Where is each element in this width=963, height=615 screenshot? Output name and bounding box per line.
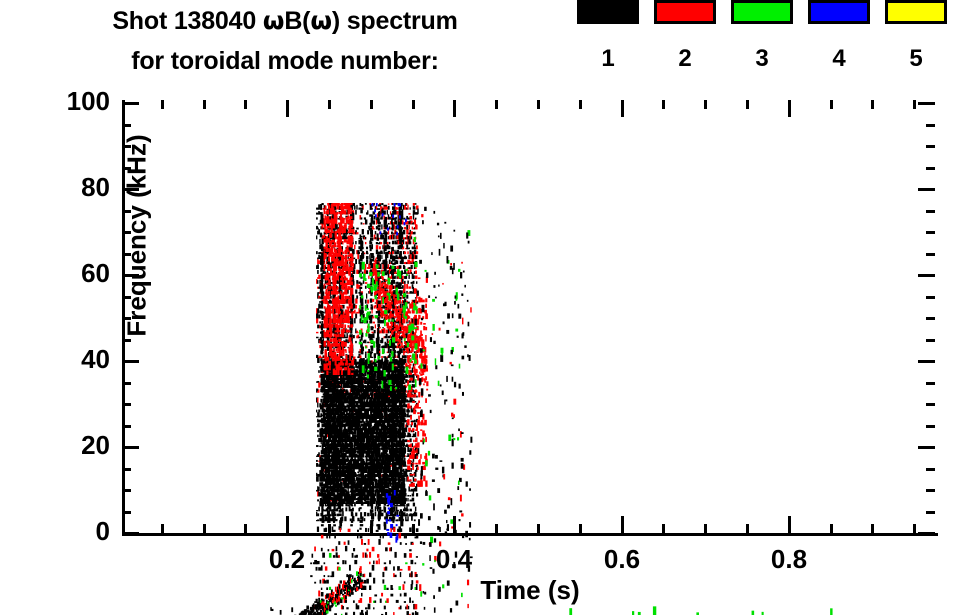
spectrogram-mark	[351, 376, 353, 380]
spectrogram-mark	[333, 490, 336, 492]
spectrogram-mark	[374, 353, 376, 358]
spectrogram-mark	[362, 229, 364, 234]
spectrogram-mark	[317, 308, 319, 313]
spectrogram-mark	[378, 255, 381, 258]
spectrogram-mark	[403, 230, 405, 234]
spectrogram-mark	[371, 259, 374, 261]
spectrogram-mark	[347, 456, 349, 462]
spectrogram-mark	[385, 342, 387, 343]
spectrogram-mark	[400, 515, 403, 519]
spectrogram-mark	[355, 359, 356, 364]
spectrogram-mark	[406, 229, 408, 234]
spectrogram-mark	[395, 217, 397, 220]
spectrogram-mark	[321, 245, 323, 251]
spectrogram-mark	[402, 285, 404, 289]
spectrogram-mark	[378, 511, 380, 516]
spectrogram-mark	[409, 495, 411, 496]
spectrogram-mark	[415, 275, 418, 278]
spectrogram-mark	[413, 503, 415, 507]
spectrogram-mark	[365, 237, 366, 239]
spectrogram-mark	[398, 222, 400, 227]
spectrogram-mark	[370, 306, 373, 309]
spectrogram-mark	[361, 311, 364, 314]
spectrogram-mark	[392, 517, 396, 520]
spectrogram-mark	[388, 206, 390, 210]
spectrogram-mark	[361, 208, 364, 210]
spectrogram-mark	[406, 513, 408, 516]
spectrogram-mark	[355, 305, 357, 309]
spectrogram-mark	[335, 514, 337, 516]
spectrogram-mark	[360, 241, 363, 245]
spectrogram-mark	[395, 220, 397, 224]
spectrogram-mark	[367, 230, 369, 234]
spectrogram-mark	[400, 297, 402, 300]
spectrogram-mark	[407, 251, 408, 254]
spectrogram-mark	[356, 205, 357, 210]
spectrogram-mark	[413, 281, 415, 284]
spectrogram-mark	[383, 205, 386, 207]
spectrogram-mark	[407, 495, 409, 497]
spectrogram-mark	[389, 252, 392, 254]
spectrogram-mark	[316, 213, 318, 215]
spectrogram-mark	[338, 513, 341, 516]
spectrogram-mark	[404, 251, 406, 254]
spectrogram-mark	[342, 504, 343, 507]
spectrogram-mark	[392, 206, 395, 209]
spectrogram-mark	[364, 217, 366, 219]
spectrogram-mark	[407, 292, 409, 293]
spectrogram-mark	[408, 225, 409, 230]
spectrogram-mark	[330, 381, 332, 384]
spectrogram-mark	[369, 267, 370, 269]
legend-label-2: 2	[654, 45, 716, 73]
spectrogram-mark	[399, 251, 402, 255]
spectrogram-mark	[321, 301, 323, 303]
spectrogram-mark	[376, 245, 379, 249]
spectrogram-mark	[357, 401, 359, 408]
spectrogram-mark	[329, 502, 331, 504]
spectrogram-mark	[317, 264, 319, 269]
spectrogram-mark	[413, 275, 415, 279]
spectrogram-mark	[316, 318, 318, 323]
spectrogram-mark	[416, 225, 418, 230]
spectrogram-mark	[406, 295, 408, 299]
spectrogram-mark	[317, 270, 319, 274]
spectrogram-mark	[321, 524, 324, 526]
spectrogram-mark	[379, 330, 381, 333]
spectrogram-mark	[351, 494, 354, 496]
spectrogram-mark	[374, 322, 375, 323]
spectrogram-mark	[361, 337, 363, 341]
spectrogram-mark	[403, 237, 405, 239]
spectrogram-mark	[373, 316, 374, 318]
spectrogram-mark	[399, 265, 401, 268]
spectrogram-mark	[378, 204, 381, 206]
spectrogram-mark	[349, 504, 350, 507]
spectrogram-mark	[342, 487, 344, 489]
spectrogram-mark	[356, 298, 357, 303]
spectrogram-mark	[414, 219, 416, 224]
spectrogram-mark	[319, 301, 320, 304]
spectrogram-mark	[382, 345, 384, 348]
spectrogram-mark	[406, 225, 408, 230]
spectrogram-mark	[367, 253, 368, 255]
spectrogram-mark	[371, 335, 373, 337]
spectrogram-mark	[316, 313, 318, 318]
spectrogram-mark	[355, 259, 357, 264]
spectrogram-mark	[323, 409, 326, 415]
spectrogram-mark	[415, 507, 416, 512]
spectrogram-mark	[370, 298, 372, 302]
spectrogram-mark	[323, 393, 325, 395]
spectrogram-mark	[391, 232, 393, 235]
spectrogram-mark	[316, 337, 319, 338]
spectrogram-mark	[393, 280, 395, 284]
spectrogram-mark	[409, 241, 411, 244]
spectrogram-mark	[409, 500, 412, 502]
spectrogram-mark	[415, 432, 416, 437]
spectrogram-mark	[398, 510, 399, 512]
spectrogram-mark	[369, 214, 372, 216]
spectrogram-mark	[333, 524, 336, 526]
spectrogram-mark	[409, 216, 412, 220]
spectrogram-mark	[383, 210, 385, 214]
spectrogram-mark	[356, 280, 358, 284]
spectrogram-mark	[406, 475, 408, 477]
spectrogram-mark	[385, 252, 388, 258]
spectrogram-mark	[345, 429, 347, 431]
spectrogram-mark	[319, 321, 321, 323]
spectrogram-mark	[330, 296, 332, 299]
spectrogram-mark	[316, 251, 318, 254]
spectrogram-mark	[357, 478, 359, 484]
spectrogram-mark	[384, 238, 387, 241]
spectrogram-mark	[360, 520, 363, 523]
spectrogram-mark	[358, 252, 360, 254]
spectrogram-mark	[400, 519, 403, 526]
spectrogram-mark	[357, 518, 359, 521]
spectrogram-mark	[341, 414, 343, 415]
spectrogram-mark	[381, 255, 382, 259]
spectrogram-mark	[317, 398, 318, 403]
spectrogram-mark	[354, 497, 355, 501]
spectrogram-mark	[353, 249, 355, 254]
legend-swatch-4	[808, 0, 870, 24]
spectrogram-mark	[399, 210, 402, 213]
spectrogram-mark	[332, 435, 334, 438]
spectrogram-mark	[350, 334, 353, 337]
legend-entry-5: 5	[885, 0, 949, 24]
spectrogram-mark	[343, 489, 346, 492]
spectrogram-mark	[377, 225, 380, 227]
spectrogram-mark	[355, 475, 357, 477]
spectrogram-mark	[327, 511, 330, 513]
spectrogram-mark	[319, 239, 320, 244]
spectrogram-mark	[325, 286, 327, 289]
spectrogram-mark	[412, 367, 414, 372]
spectrogram-mark	[339, 510, 342, 513]
spectrogram-mark	[354, 502, 356, 506]
spectrogram-mark	[321, 302, 323, 306]
spectrogram-mark	[371, 309, 372, 313]
spectrogram-mark	[369, 254, 370, 259]
spectrogram-mark	[365, 286, 367, 289]
spectrogram-mark	[392, 241, 394, 245]
spectrogram-mark	[366, 270, 368, 274]
omega-symbol-1: ω	[263, 6, 285, 35]
spectrogram-mark	[318, 389, 319, 392]
spectrogram-mark	[342, 508, 343, 511]
spectrogram-mark	[353, 357, 355, 358]
spectrogram-mark	[338, 490, 340, 493]
legend-label-5: 5	[885, 45, 947, 73]
spectrogram-mark	[371, 304, 373, 306]
spectrogram-mark	[329, 454, 330, 457]
spectrogram-mark	[350, 502, 352, 504]
spectrogram-mark	[321, 378, 323, 385]
spectrogram-mark	[346, 333, 347, 338]
spectrogram-mark	[344, 500, 346, 504]
spectrogram-mark	[388, 348, 390, 353]
spectrogram-mark	[361, 204, 363, 206]
spectrogram-mark	[338, 412, 339, 415]
spectrogram-mark	[403, 239, 404, 244]
spectrogram-mark	[408, 286, 410, 288]
spectrogram-mark	[333, 492, 335, 496]
spectrogram-mark	[408, 267, 410, 269]
spectrogram-mark	[411, 231, 413, 234]
spectrogram-mark	[383, 242, 387, 245]
figure-title-line-2: for toroidal mode number:	[0, 47, 570, 76]
spectrogram-mark	[394, 276, 396, 279]
spectrogram-mark	[405, 256, 407, 259]
spectrogram-mark	[365, 352, 367, 353]
spectrogram-mark	[385, 231, 387, 234]
spectrogram-mark	[360, 236, 363, 238]
omega-symbol-2: ω	[310, 6, 332, 35]
spectrogram-mark	[321, 311, 323, 313]
spectrogram-mark	[318, 382, 320, 387]
spectrogram-mark	[356, 312, 358, 314]
spectrogram-mark	[320, 332, 322, 334]
spectrogram-mark	[337, 351, 339, 353]
spectrogram-mark	[347, 443, 349, 446]
spectrogram-mark	[320, 437, 322, 442]
spectrogram-mark	[318, 229, 320, 234]
spectrogram-mark	[365, 264, 366, 269]
title-text-post: ) spectrum	[332, 7, 458, 35]
spectrogram-mark	[370, 326, 373, 330]
spectrogram-mark	[351, 521, 353, 523]
spectrogram-mark	[377, 252, 381, 255]
spectrogram-mark	[321, 323, 323, 330]
spectrogram-mark	[328, 439, 330, 446]
spectrogram-mark	[321, 276, 323, 279]
spectrogram-mark	[317, 476, 319, 481]
spectrogram-mark	[339, 473, 341, 477]
plot-frame	[122, 100, 938, 536]
title-text-pre: Shot 138040	[112, 7, 262, 35]
spectrogram-mark	[415, 255, 418, 259]
spectrogram-mark	[355, 289, 357, 293]
spectrogram-mark	[355, 210, 357, 215]
spectrogram-mark	[412, 498, 415, 502]
spectrogram-mark	[343, 389, 345, 392]
spectrogram-mark	[415, 472, 416, 477]
spectrogram-mark	[356, 232, 358, 234]
spectrogram-mark	[326, 399, 329, 403]
spectrogram-mark	[337, 374, 338, 380]
spectrogram-mark	[366, 256, 368, 259]
spectrogram-mark	[355, 314, 357, 319]
spectrogram-mark	[414, 420, 416, 423]
spectrogram-mark	[316, 512, 317, 516]
spectrogram-mark	[402, 209, 403, 214]
spectrogram-mark	[330, 450, 332, 454]
spectrogram-mark	[357, 362, 359, 365]
spectrogram-mark	[385, 343, 388, 347]
spectrogram-mark	[319, 317, 320, 318]
legend-label-1: 1	[577, 45, 639, 73]
spectrogram-mark	[359, 528, 361, 530]
spectrogram-mark	[318, 204, 320, 209]
spectrogram-mark	[365, 342, 367, 344]
spectrogram-mark	[321, 487, 324, 489]
spectrogram-mark	[354, 206, 356, 210]
spectrogram-mark	[404, 355, 406, 358]
spectrogram-mark	[404, 281, 406, 284]
legend-swatch-1	[577, 0, 639, 24]
spectrogram-mark	[375, 324, 376, 328]
spectrogram-mark	[415, 203, 417, 205]
spectrogram-mark	[376, 524, 379, 526]
spectrogram-mark	[408, 375, 410, 378]
spectrogram-mark	[361, 351, 364, 355]
spectrogram-mark	[356, 331, 358, 334]
spectrogram-mark	[406, 242, 407, 245]
spectrogram-mark	[381, 252, 383, 254]
spectrogram-mark	[350, 524, 353, 526]
spectrogram-mark	[336, 309, 338, 314]
spectrogram-mark	[392, 224, 394, 230]
spectrogram-mark	[407, 516, 408, 521]
spectrogram-mark	[360, 355, 362, 358]
spectrogram-mark	[320, 351, 323, 354]
spectrogram-mark	[416, 493, 418, 496]
spectrogram-mark	[331, 482, 333, 485]
spectrogram-mark	[376, 242, 378, 244]
spectrogram-mark	[321, 396, 323, 398]
spectrogram-mark	[320, 233, 322, 237]
spectrogram-mark	[413, 491, 414, 496]
spectrogram-mark	[365, 353, 367, 358]
spectrogram-mark	[334, 480, 336, 485]
spectrogram-mark	[320, 220, 324, 224]
spectrogram-mark	[406, 321, 407, 323]
spectrogram-mark	[354, 318, 356, 323]
spectrogram-mark	[407, 509, 408, 512]
spectrogram-mark	[393, 235, 395, 239]
spectrogram-mark	[345, 507, 347, 511]
spectrogram-mark	[320, 337, 322, 341]
spectrogram-mark	[356, 295, 358, 298]
spectrogram-mark	[392, 359, 395, 361]
spectrogram-mark	[321, 239, 323, 245]
spectrogram-mark	[412, 247, 414, 250]
spectrogram-mark	[413, 459, 414, 462]
spectrogram-mark	[318, 409, 320, 412]
spectrogram-mark	[352, 508, 354, 512]
spectrogram-mark	[359, 459, 362, 462]
spectrogram-mark	[416, 281, 417, 284]
spectrogram-mark	[317, 499, 319, 501]
spectrogram-mark	[359, 265, 361, 272]
spectrogram-mark	[316, 445, 319, 447]
spectrogram-mark	[409, 291, 411, 294]
spectrogram-mark	[348, 355, 350, 358]
spectrogram-mark	[324, 262, 325, 264]
spectrogram-mark	[405, 276, 407, 279]
spectrogram-mark	[318, 507, 320, 512]
spectrogram-mark	[358, 474, 360, 477]
spectrogram-mark	[400, 509, 402, 512]
spectrogram-mark	[411, 236, 413, 239]
spectrogram-mark	[316, 460, 318, 462]
spectrogram-mark	[392, 508, 394, 510]
spectrogram-mark	[381, 513, 383, 517]
spectrogram-mark	[384, 522, 386, 527]
spectrogram-mark	[402, 276, 404, 279]
figure-title-line-1: Shot 138040 ωB(ω) spectrum	[0, 6, 570, 36]
spectrogram-mark	[321, 458, 323, 461]
spectrogram-mark	[377, 238, 380, 241]
spectrogram-mark	[321, 455, 324, 458]
spectrogram-mark	[413, 210, 415, 214]
spectrogram-mark	[376, 311, 378, 314]
spectrogram-mark	[381, 224, 382, 229]
spectrogram-mark	[356, 228, 359, 230]
spectrogram-mark	[400, 245, 403, 248]
spectrogram-mark	[339, 385, 341, 388]
spectrogram-mark	[404, 505, 405, 507]
spectrogram-mark	[363, 223, 365, 224]
spectrogram-mark	[354, 480, 355, 485]
spectrogram-mark	[391, 256, 394, 258]
spectrogram-mark	[416, 245, 418, 249]
spectrogram-mark	[365, 242, 367, 244]
spectrogram-mark	[413, 384, 415, 387]
spectrogram-mark	[333, 511, 335, 513]
legend-entry-3: 3	[731, 0, 795, 24]
spectrogram-mark	[317, 325, 320, 329]
title-text-mid: B(	[284, 7, 310, 35]
spectrogram-mark	[404, 227, 406, 230]
spectrogram-mark	[389, 217, 391, 220]
spectrogram-mark	[352, 513, 354, 516]
spectrogram-mark	[355, 341, 357, 343]
spectrogram-mark	[416, 465, 418, 467]
spectrogram-mark	[369, 245, 371, 248]
spectrogram-mark	[386, 330, 389, 334]
spectrogram-mark	[415, 486, 417, 491]
spectrogram-mark	[383, 328, 385, 333]
spectrogram-mark	[321, 283, 323, 285]
spectrogram-mark	[391, 511, 394, 513]
spectrogram-mark	[360, 238, 362, 241]
spectrogram-mark	[321, 214, 324, 220]
spectrogram-figure: Shot 138040 ωB(ω) spectrum for toroidal …	[0, 0, 963, 615]
spectrogram-mark	[337, 466, 338, 469]
